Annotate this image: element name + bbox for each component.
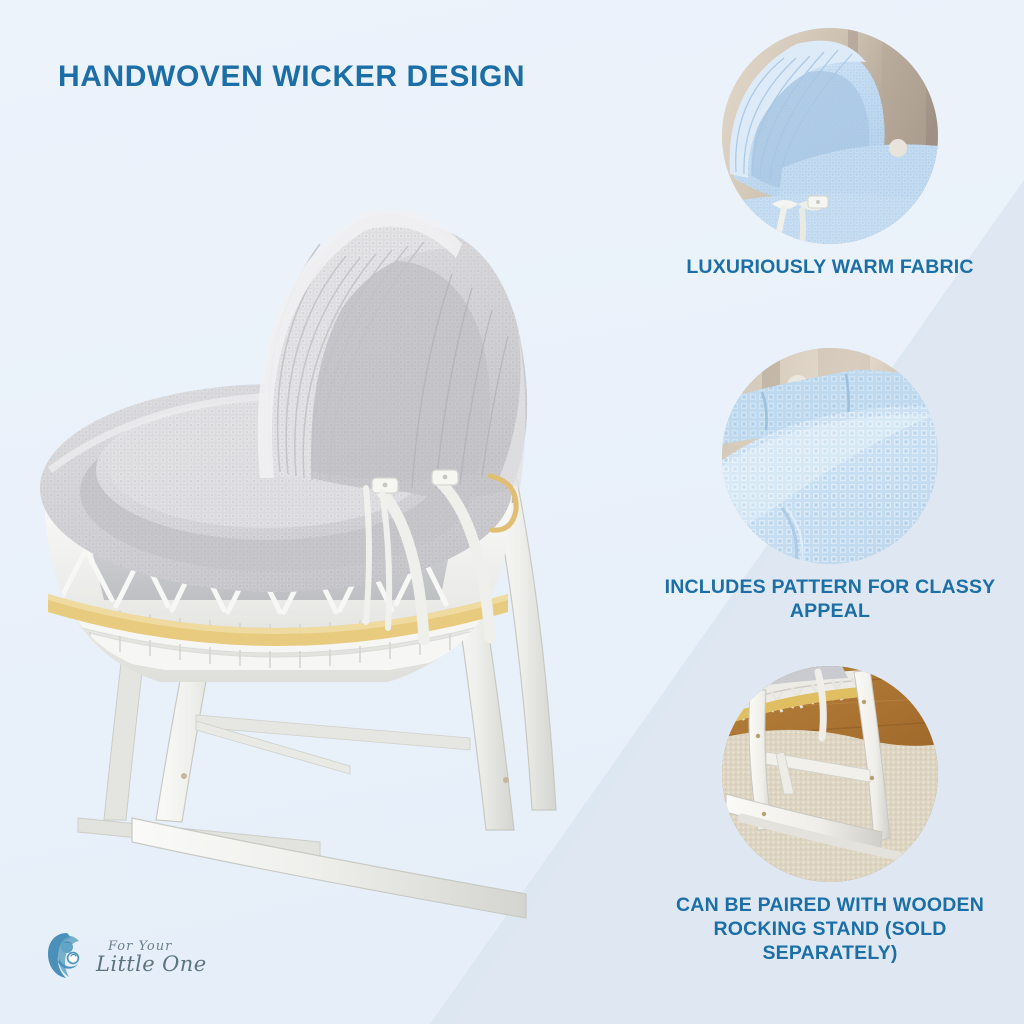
feature-2-caption: INCLUDES PATTERN FOR CLASSY APPEAL [636,576,1024,624]
feature-rocking-stand: CAN BE PAIRED WITH WOODEN ROCKING STAND … [636,666,1024,965]
feature-warm-fabric: LUXURIOUSLY WARM FABRIC [636,28,1024,280]
logo-line-1: For Your [96,940,207,953]
logo-line-2: Little One [96,954,207,975]
blue-waffle-hood-moses-basket-closeup [722,28,938,244]
brand-logo[interactable]: For Your Little One [46,925,246,987]
blue-waffle-fabric-texture-closeup [722,348,938,564]
hero-product-image [20,170,620,960]
moses-basket-illustration [20,170,620,960]
feature-3-caption: CAN BE PAIRED WITH WOODEN ROCKING STAND … [636,894,1024,965]
marketing-image-canvas: HANDWOVEN WICKER DESIGN [0,0,1024,1024]
feature-1-circle-image [722,28,938,244]
feature-2-circle-image [722,348,938,564]
fabric-hood-canopy [258,210,527,498]
feature-1-caption: LUXURIOUSLY WARM FABRIC [636,256,1024,280]
page-title: HANDWOVEN WICKER DESIGN [58,60,525,95]
feature-column: LUXURIOUSLY WARM FABRIC [636,0,1024,1024]
white-wooden-rocking-stand-on-rug [722,666,938,882]
mother-and-baby-icon [46,931,90,981]
feature-3-circle-image [722,666,938,882]
feature-pattern: INCLUDES PATTERN FOR CLASSY APPEAL [636,348,1024,624]
